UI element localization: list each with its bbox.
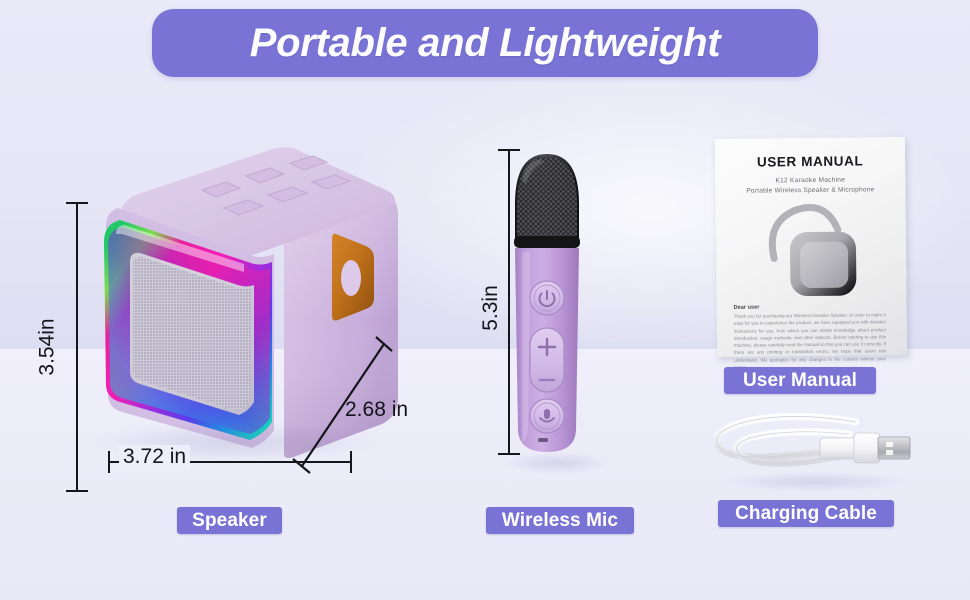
mic-dim-cap-bottom (498, 453, 520, 455)
dim-width-cap-left (108, 451, 110, 473)
product-speaker: 3.54in 3.72 in 2.68 in Speaker (60, 130, 430, 500)
mic-dim-label: 5.3in (479, 285, 503, 331)
label-user-manual-text: User Manual (743, 370, 857, 392)
mic-shadow (504, 452, 610, 474)
manual-body-text: Thank you for purchasing our Wireless Ka… (734, 311, 887, 371)
manual-subtitle-line-2: Portable Wireless Speaker & Microphone (715, 186, 905, 195)
mic-collar (514, 236, 580, 248)
mic-volume-button (530, 328, 564, 392)
product-user-manual: USER MANUAL K12 Karaoke Machine Portable… (716, 138, 906, 358)
infographic-canvas: Portable and Lightweight (0, 0, 970, 600)
header-banner: Portable and Lightweight (152, 9, 818, 77)
micro-usb-connector (820, 438, 858, 459)
mic-dim-cap-top (498, 149, 520, 151)
mic-dim-line (508, 149, 510, 455)
cable-shadow (722, 472, 912, 492)
product-wireless-mic: 5.3in Wireless Mic (462, 140, 632, 490)
manual-subtitle-line-1: K12 Karaoke Machine (715, 176, 905, 185)
mic-head (515, 154, 579, 242)
label-charging-cable: Charging Cable (718, 500, 894, 527)
label-user-manual: User Manual (724, 367, 876, 394)
label-wireless-mic-text: Wireless Mic (502, 510, 618, 532)
manual-salutation: Dear user (734, 305, 760, 311)
mic-indicator-led (538, 438, 548, 442)
label-wireless-mic: Wireless Mic (486, 507, 634, 534)
dim-height-label: 3.54in (36, 318, 60, 375)
dim-height-cap-bottom (66, 490, 88, 492)
manual-page: USER MANUAL K12 Karaoke Machine Portable… (715, 137, 907, 357)
manual-cover-speaker-illustration (755, 195, 868, 300)
dim-height-line (76, 202, 78, 492)
product-charging-cable: Charging Cable (706, 408, 926, 493)
manual-title: USER MANUAL (715, 153, 905, 170)
mic-mode-button (530, 399, 564, 433)
mic-power-button (530, 281, 564, 315)
dim-depth-label: 2.68 in (345, 398, 408, 422)
header-title: Portable and Lightweight (250, 23, 721, 63)
label-speaker: Speaker (177, 507, 282, 534)
label-speaker-text: Speaker (192, 510, 267, 532)
usb-a-connector (854, 433, 910, 463)
dim-width-label: 3.72 in (119, 445, 190, 469)
dim-height-cap-top (66, 202, 88, 204)
label-charging-cable-text: Charging Cable (735, 503, 877, 525)
